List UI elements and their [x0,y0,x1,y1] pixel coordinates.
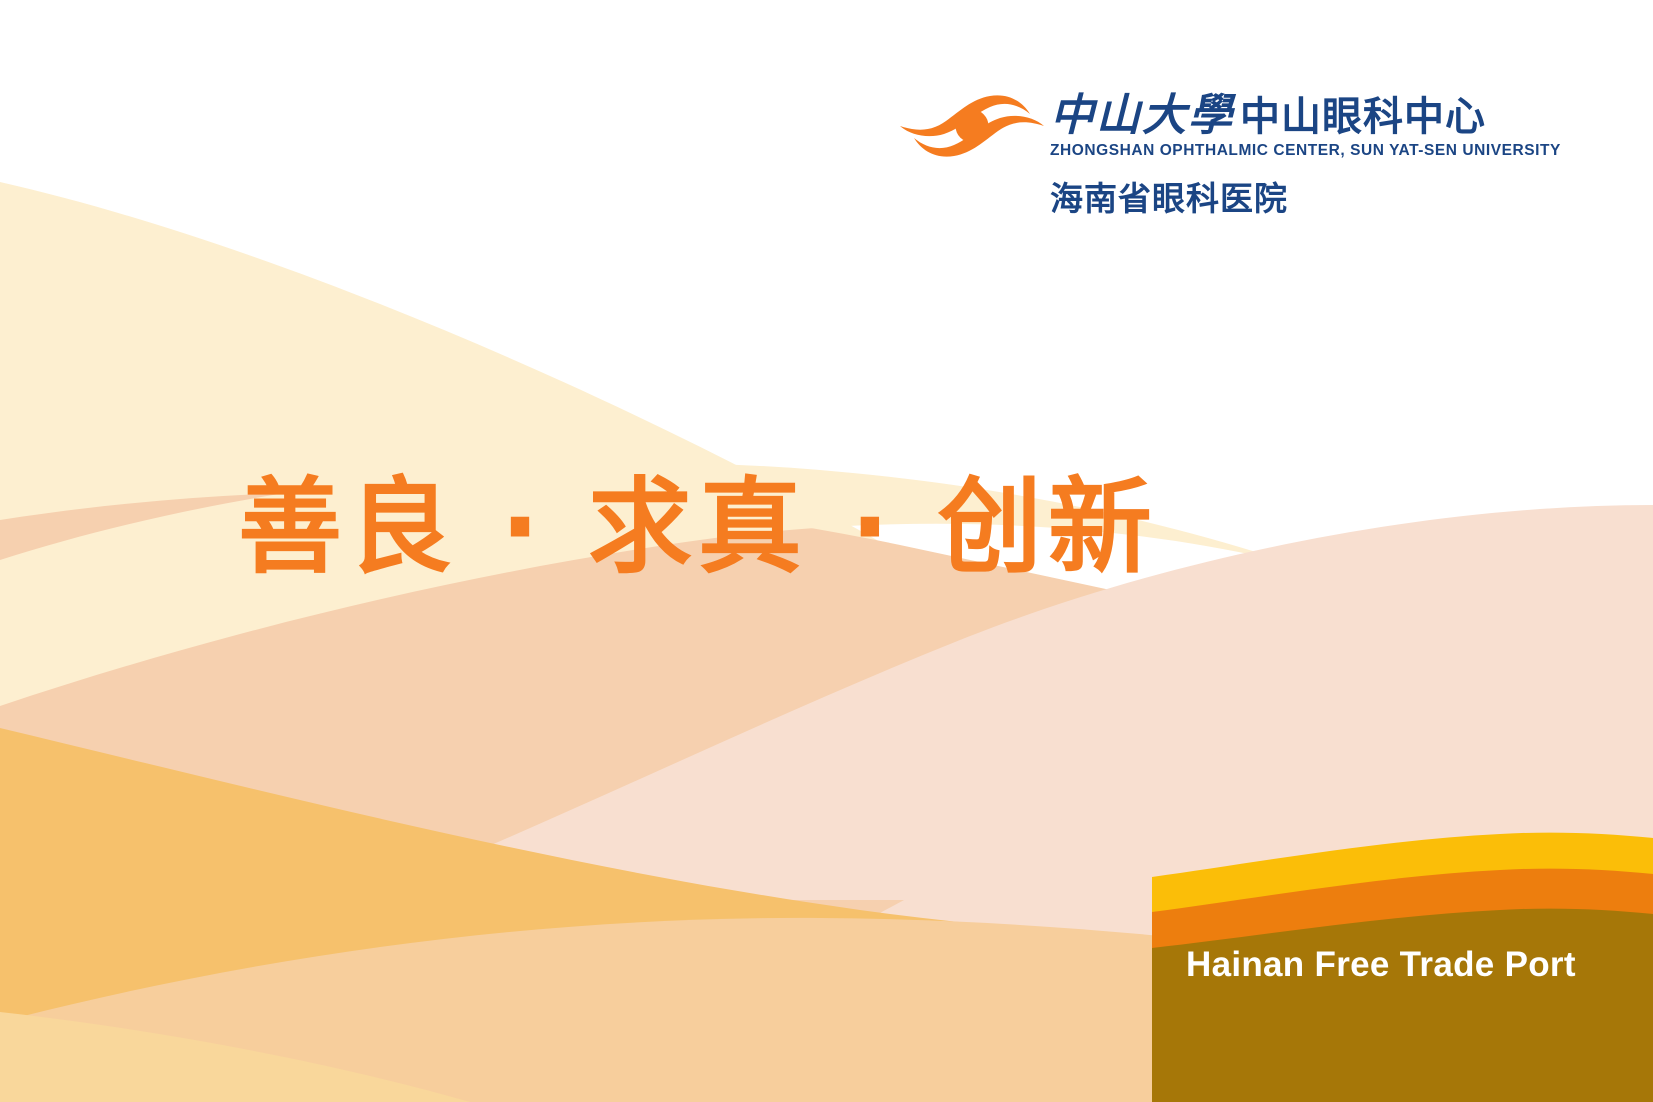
brand-logo-block: 中山大學 中山眼科中心 ZHONGSHAN OPHTHALMIC CENTER,… [898,84,1458,214]
logo-chinese-line: 中山大學 中山眼科中心 [1050,84,1458,138]
university-name-cn: 中山大學 [1050,94,1234,138]
slogan-text: 善良 · 求真 · 创新 [238,462,1298,592]
logo-text-group: 中山大學 中山眼科中心 ZHONGSHAN OPHTHALMIC CENTER,… [1050,84,1458,220]
eye-logo-icon [898,90,1046,162]
caption-hainan-free-trade-port: Hainan Free Trade Port [1186,945,1626,985]
center-name-cn: 中山眼科中心 [1240,97,1486,137]
logo-english-line: ZHONGSHAN OPHTHALMIC CENTER, SUN YAT-SEN… [1050,142,1458,160]
slide-canvas: 中山大學 中山眼科中心 ZHONGSHAN OPHTHALMIC CENTER,… [0,0,1653,1102]
hospital-name-cn: 海南省眼科医院 [1050,172,1458,220]
